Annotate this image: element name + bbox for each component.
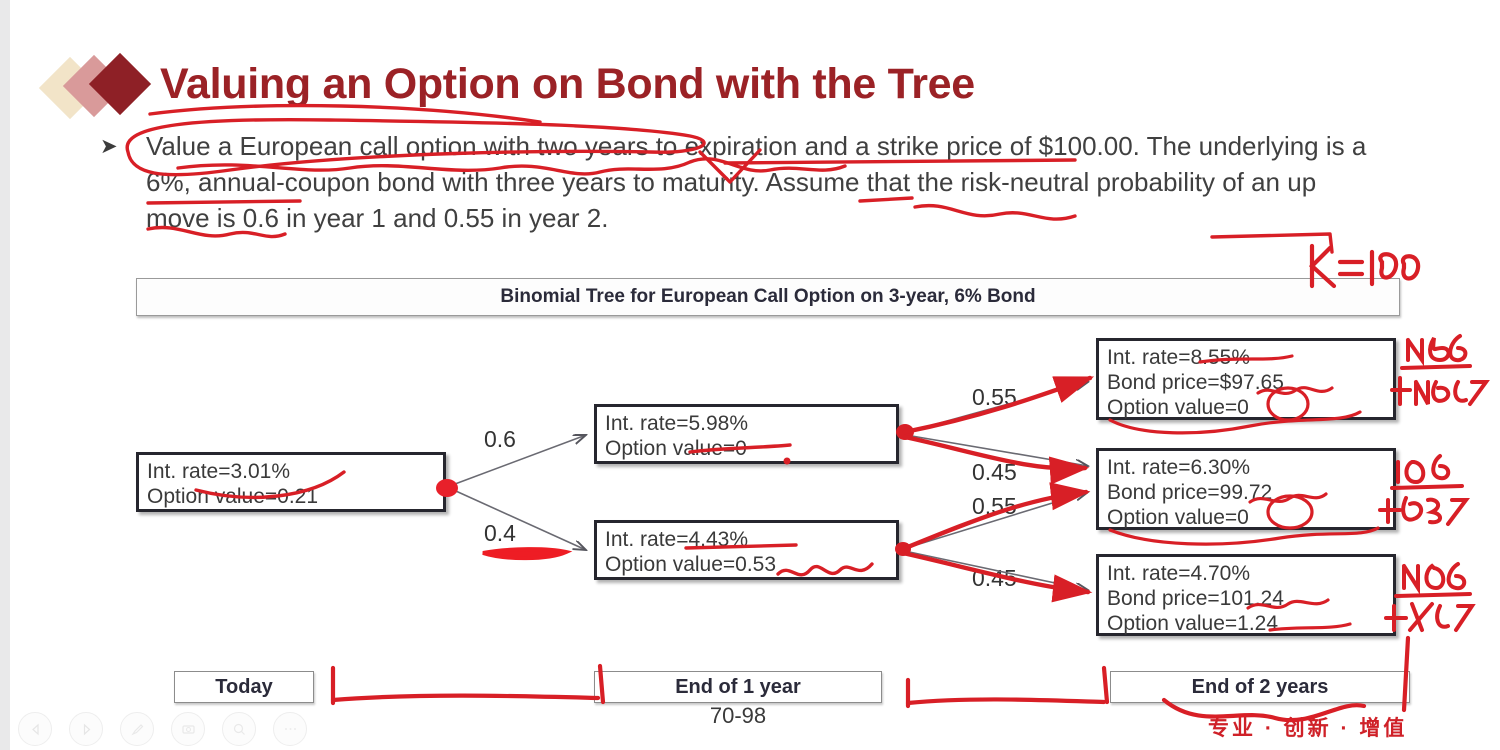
node-uu-rate: Int. rate=8.55%: [1107, 345, 1385, 370]
zoom-button[interactable]: [222, 712, 256, 746]
prob-up-down: 0.45: [972, 459, 1017, 486]
node-ud-price: Bond price=99.72: [1107, 480, 1385, 505]
logo-diamonds: [46, 56, 166, 122]
node-ud-rate: Int. rate=6.30%: [1107, 455, 1385, 480]
node-root-rate: Int. rate=3.01%: [147, 459, 435, 484]
node-dd-rate: Int. rate=4.70%: [1107, 561, 1385, 586]
bullet-arrow-icon: ➤: [100, 134, 118, 159]
tree-node-down-down: Int. rate=4.70% Bond price=101.24 Option…: [1096, 554, 1396, 636]
body-paragraph: Value a European call option with two ye…: [146, 128, 1386, 236]
prob-down-down: 0.45: [972, 565, 1017, 592]
tree-node-down: Int. rate=4.43% Option value=0.53: [594, 520, 899, 580]
ink-fraction-uu: [1392, 336, 1486, 404]
camera-button[interactable]: [171, 712, 205, 746]
timeline-end-year-2: End of 2 years: [1110, 671, 1410, 703]
prob-up-up: 0.55: [972, 384, 1017, 411]
node-root-option: Option value=0.21: [147, 484, 435, 509]
node-dd-option: Option value=1.24: [1107, 611, 1385, 636]
footer-slogan: 专业 · 创新 · 增值: [1208, 712, 1407, 742]
node-dd-price: Bond price=101.24: [1107, 586, 1385, 611]
slide-canvas: Valuing an Option on Bond with the Tree …: [0, 0, 1500, 750]
node-down-rate: Int. rate=4.43%: [605, 527, 888, 552]
page-title: Valuing an Option on Bond with the Tree: [160, 60, 975, 109]
tree-node-root: Int. rate=3.01% Option value=0.21: [136, 452, 446, 512]
node-ud-option: Option value=0: [1107, 505, 1385, 530]
tree-node-up-down: Int. rate=6.30% Bond price=99.72 Option …: [1096, 448, 1396, 530]
timeline-today: Today: [174, 671, 314, 703]
node-up-rate: Int. rate=5.98%: [605, 411, 888, 436]
tree-node-up-up: Int. rate=8.55% Bond price=$97.65 Option…: [1096, 338, 1396, 420]
ink-fraction-dd: [1386, 564, 1472, 630]
prob-down-up: 0.55: [972, 493, 1017, 520]
node-uu-price: Bond price=$97.65: [1107, 370, 1385, 395]
more-button[interactable]: [273, 712, 307, 746]
prob-down-year1: 0.4: [484, 520, 516, 547]
player-left-edge: [0, 0, 10, 750]
tree-node-up: Int. rate=5.98% Option value=0: [594, 404, 899, 464]
sub-note: 70-98: [594, 703, 882, 729]
node-uu-option: Option value=0: [1107, 395, 1385, 420]
previous-button[interactable]: [18, 712, 52, 746]
node-down-option: Option value=0.53: [605, 552, 888, 577]
play-button[interactable]: [69, 712, 103, 746]
pen-button[interactable]: [120, 712, 154, 746]
node-up-option: Option value=0: [605, 436, 888, 461]
prob-up-year1: 0.6: [484, 426, 516, 453]
timeline-end-year-1: End of 1 year: [594, 671, 882, 703]
tree-banner-title: Binomial Tree for European Call Option o…: [136, 278, 1400, 316]
player-toolbar[interactable]: [18, 712, 307, 746]
